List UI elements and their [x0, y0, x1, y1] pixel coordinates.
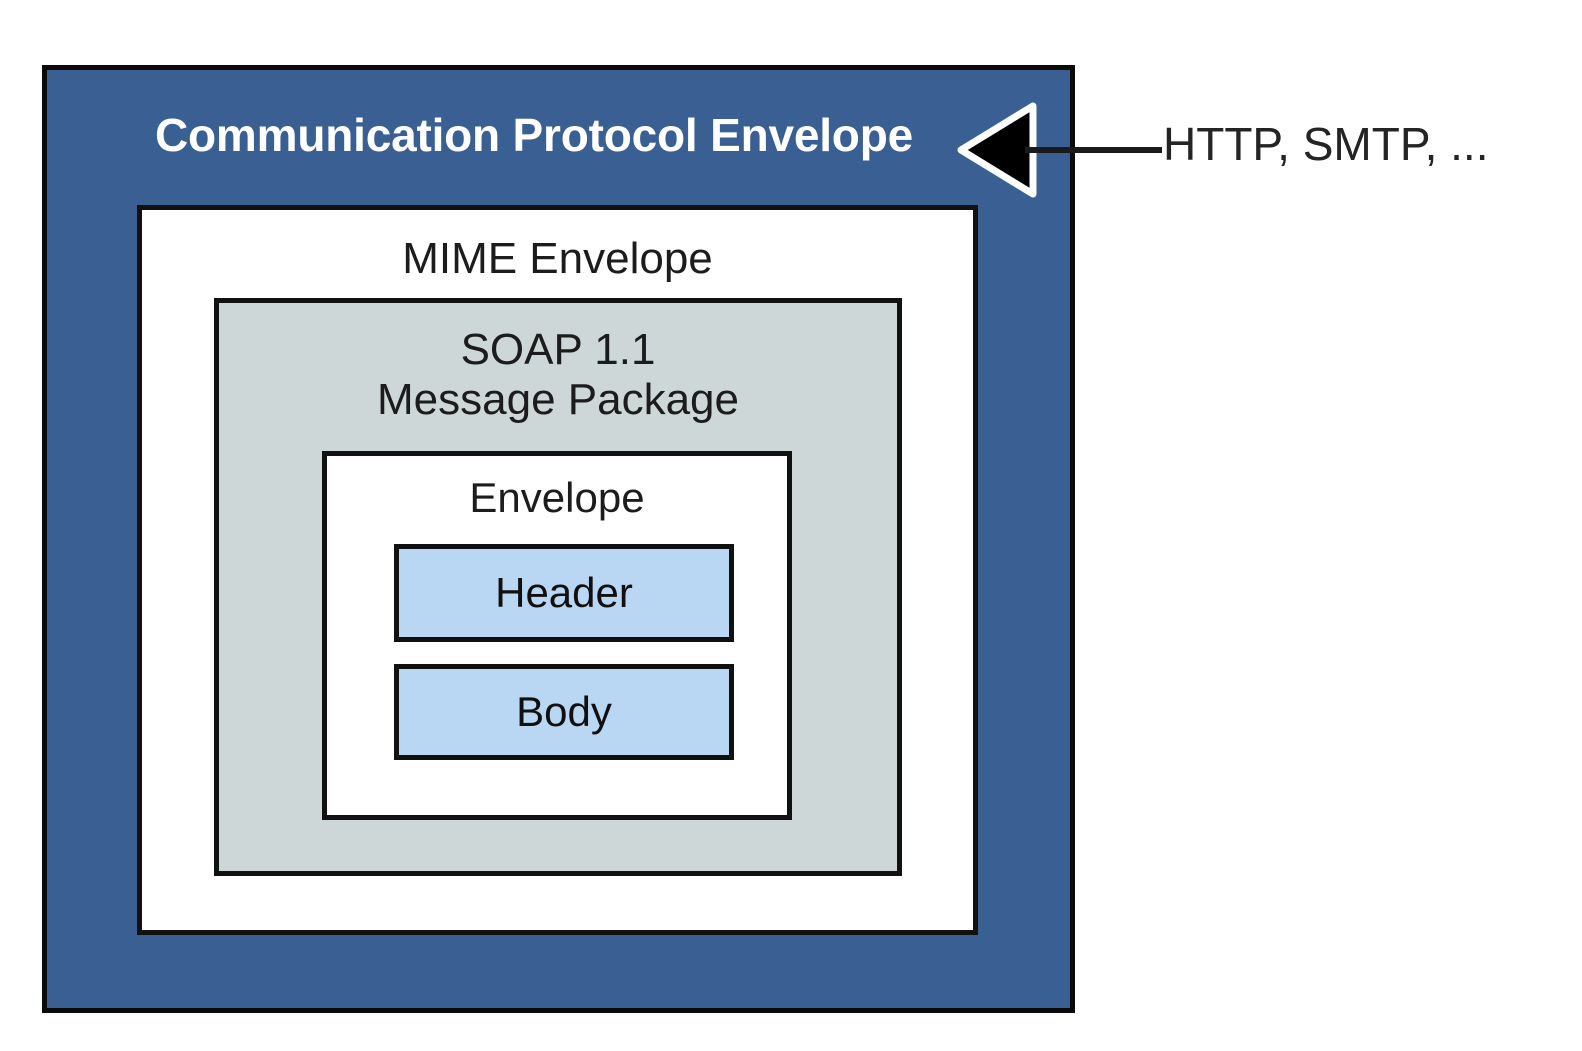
diagram-canvas: Communication Protocol Envelope MIME Env…: [0, 0, 1582, 1051]
communication-protocol-envelope-box: Communication Protocol Envelope MIME Env…: [42, 65, 1075, 1013]
soap-body-box: Body: [394, 664, 734, 760]
annotation-arrow-icon: [955, 100, 1170, 200]
soap-version-label: SOAP 1.1: [461, 325, 656, 374]
soap-message-package-label: SOAP 1.1 Message Package: [219, 325, 897, 425]
communication-protocol-envelope-label: Communication Protocol Envelope: [155, 108, 965, 162]
soap-envelope-box: Envelope Header Body: [322, 451, 792, 820]
soap-header-box: Header: [394, 544, 734, 642]
soap-body-label: Body: [516, 688, 612, 736]
soap-envelope-label: Envelope: [327, 474, 787, 522]
soap-header-label: Header: [495, 569, 633, 617]
soap-message-package-box: SOAP 1.1 Message Package Envelope Header…: [214, 298, 902, 876]
mime-envelope-box: MIME Envelope SOAP 1.1 Message Package E…: [137, 205, 978, 935]
mime-envelope-label: MIME Envelope: [142, 234, 973, 284]
soap-package-label: Message Package: [219, 375, 897, 425]
transport-protocols-label: HTTP, SMTP, ...: [1163, 117, 1488, 171]
